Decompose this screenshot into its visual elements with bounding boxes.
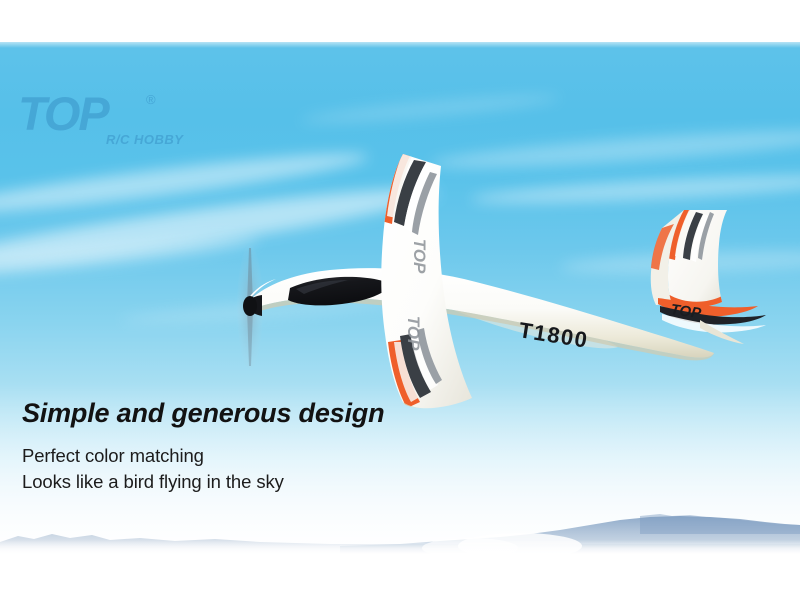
- subline-1: Perfect color matching: [22, 445, 542, 467]
- product-banner: TOP ® R/C HOBBY: [0, 0, 800, 600]
- wing-brand-text: TOP: [404, 316, 423, 351]
- wing-brand-text: TOP: [410, 239, 429, 274]
- subline-2: Looks like a bird flying in the sky: [22, 471, 542, 493]
- caption-block: Simple and generous design Perfect color…: [22, 398, 542, 497]
- v-tail: TOP: [651, 208, 766, 344]
- wing-brand-mark-upper: TOP: [410, 239, 429, 274]
- wing-brand-mark-lower: TOP: [404, 316, 423, 351]
- headline: Simple and generous design: [22, 398, 542, 429]
